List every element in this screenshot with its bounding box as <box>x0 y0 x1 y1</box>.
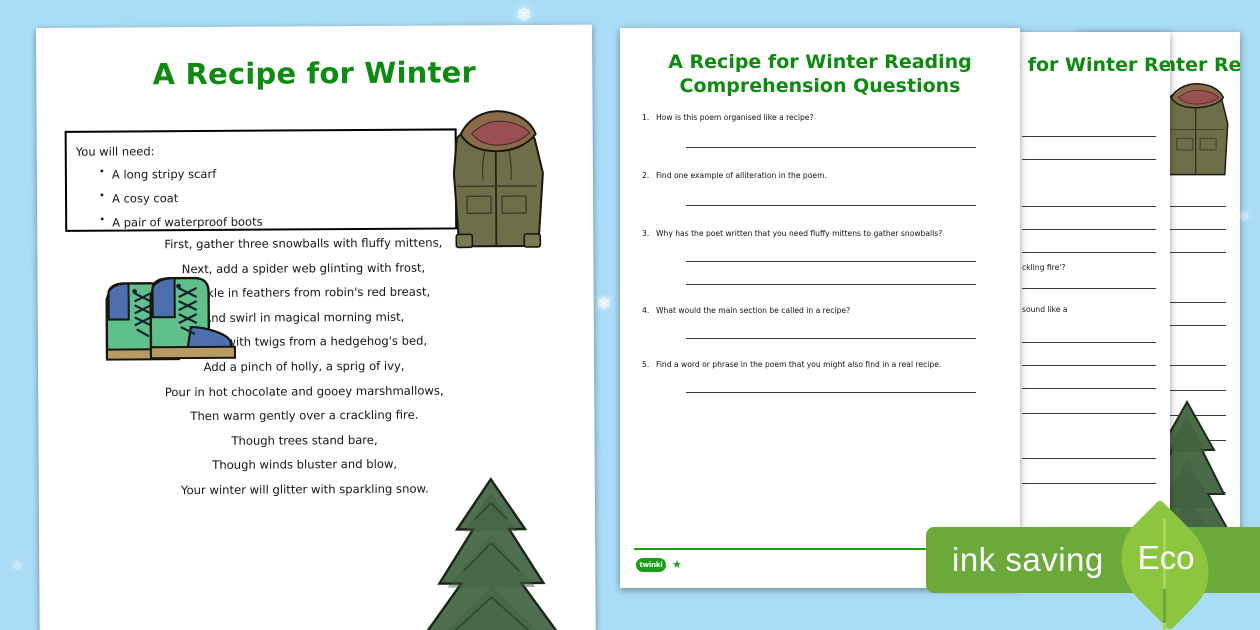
poem-line: First, gather three snowballs with fluff… <box>133 230 473 257</box>
poem-line: Then warm gently over a crackling fire. <box>134 402 474 429</box>
waterproof-boots-illustration <box>94 269 243 367</box>
list-item: A pair of waterproof boots <box>99 213 455 229</box>
list-item: A long stripy scarf <box>99 165 455 181</box>
question-number: 5. <box>642 359 656 370</box>
page2-title-line1: A Recipe for Winter Reading <box>646 50 994 74</box>
question-item: 5. Find a word or phrase in the poem tha… <box>642 359 998 370</box>
worksheet-page-2-comprehension-questions[interactable]: A Recipe for Winter Reading Comprehensio… <box>620 28 1020 588</box>
list-item: A cosy coat <box>99 189 455 205</box>
ink-saving-label: ink saving <box>952 541 1104 579</box>
question-text: How is this poem organised like a recipe… <box>656 112 814 123</box>
answer-line[interactable] <box>686 284 976 285</box>
page2-title-line2: Comprehension Questions <box>646 74 994 98</box>
page3-fragment: ckling fire'? <box>1022 263 1156 272</box>
ink-saving-eco-badge: ink saving Eco <box>926 527 1260 593</box>
eco-bar: ink saving <box>926 527 1260 593</box>
question-item: 2. Find one example of alliteration in t… <box>642 170 998 181</box>
page2-title: A Recipe for Winter Reading Comprehensio… <box>646 50 994 98</box>
question-text: Find one example of alliteration in the … <box>656 170 827 181</box>
answer-line[interactable] <box>686 205 976 206</box>
question-text: Why has the poet written that you need f… <box>656 228 942 239</box>
question-number: 4. <box>642 305 656 316</box>
worksheet-page-3[interactable]: A Recipe for Winter Reading ckling fire'… <box>1008 32 1170 584</box>
question-number: 2. <box>642 170 656 181</box>
snowflake-icon: ❄ <box>516 6 532 25</box>
star-icon: ★ <box>672 558 682 572</box>
answer-line[interactable] <box>686 147 976 148</box>
question-number: 3. <box>642 228 656 239</box>
snowflake-icon: ❄ <box>597 296 611 313</box>
page3-title-fragment: A Recipe for Winter Reading <box>1008 54 1170 76</box>
winter-coat-illustration <box>440 98 551 259</box>
you-will-need-heading: You will need: <box>76 142 455 158</box>
snowflake-icon: ❄ <box>12 560 23 573</box>
question-number: 1. <box>642 112 656 123</box>
fir-tree-illustration <box>401 473 584 630</box>
answer-line[interactable] <box>686 338 976 339</box>
question-item: 1. How is this poem organised like a rec… <box>642 112 998 123</box>
you-will-need-box: You will need: A long stripy scarf A cos… <box>65 128 458 231</box>
page3-fragment: sound like a <box>1022 305 1156 314</box>
poem-line: Though trees stand bare, <box>134 427 474 454</box>
you-will-need-list: A long stripy scarf A cosy coat A pair o… <box>99 165 455 229</box>
worksheet-page-1-poem[interactable]: A Recipe for Winter You will need: A lon… <box>36 25 596 630</box>
question-item: 4. What would the main section be called… <box>642 305 998 316</box>
page-title: A Recipe for Winter <box>36 55 592 92</box>
poem-line: Pour in hot chocolate and gooey marshmal… <box>134 378 474 405</box>
answer-line[interactable] <box>686 392 976 393</box>
twinkl-logo: twinkl <box>636 558 666 572</box>
questions-list: 1. How is this poem organised like a rec… <box>642 112 998 393</box>
answer-line[interactable] <box>686 261 976 262</box>
question-text: Find a word or phrase in the poem that y… <box>656 359 941 370</box>
question-item: 3. Why has the poet written that you nee… <box>642 228 998 239</box>
question-text: What would the main section be called in… <box>656 305 850 316</box>
leaf-stem <box>1163 589 1166 623</box>
eco-label: Eco <box>1130 539 1202 577</box>
